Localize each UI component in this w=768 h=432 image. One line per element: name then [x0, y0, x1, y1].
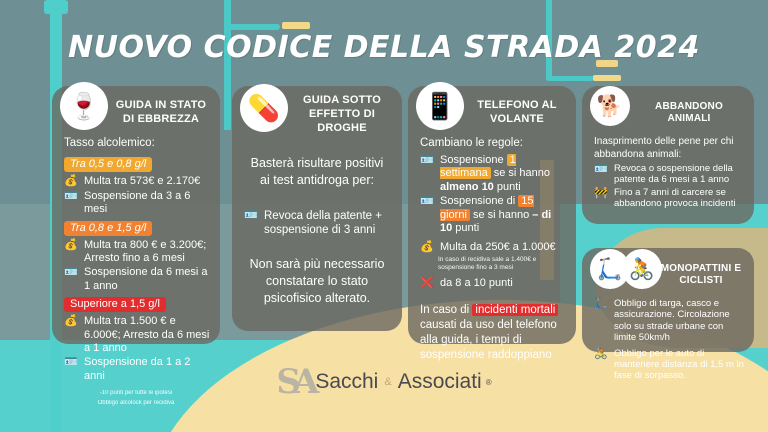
list-item: 🪪 Sospensione di 15 giorni se si hanno –…: [420, 195, 566, 235]
card-title: MONOPATTINI E CICLISTI: [660, 263, 744, 288]
scooter-cyclist-avatars: 🛴 🚴: [590, 249, 654, 289]
smartphone-hand-icon: 📱: [416, 82, 464, 130]
logo-registered-mark: ®: [486, 378, 492, 387]
pills-capsule-icon: 💊: [240, 84, 288, 132]
alcohol-t2-r1: Multa tra 800 € e 3.200€; Arresto fino a…: [84, 239, 210, 266]
phone-r2: Sospensione di 15 giorni se si hanno – d…: [440, 195, 566, 235]
alcohol-intro: Tasso alcolemico:: [64, 136, 210, 151]
kick-scooter-icon: 🛴: [594, 298, 609, 312]
alcohol-tag-1: Tra 0,5 e 0,8 g/l: [64, 157, 152, 172]
money-handcuffs-icon: 💰: [64, 315, 79, 329]
phone-intro: Cambiano le regole:: [420, 136, 566, 151]
driver-license-icon: 🪪: [420, 195, 435, 209]
street-pole-mid: [224, 0, 231, 130]
card-monopattini-e-ciclisti: 🛴 🚴 MONOPATTINI E CICLISTI 🛴 Obbligo di …: [582, 248, 754, 352]
card-guida-sotto-effetto-di-droghe: 💊 GUIDA SOTTO EFFETTO DI DROGHE Basterà …: [232, 86, 402, 331]
phone-note: In caso di incidenti mortali causati da …: [420, 303, 566, 363]
list-item: 🪪 Revoca o sospensione della patente da …: [594, 163, 744, 186]
logo-monogram: SA: [276, 362, 311, 402]
points-minus-icon: ❌: [420, 277, 435, 291]
list-item: 💰 Multa tra 1.500 € e 6.000€; Arresto da…: [64, 315, 210, 355]
alcohol-t1-r2: Sospensione da 3 a 6 mesi: [84, 190, 210, 217]
infographic-canvas: NUOVO CODICE DELLA STRADA 2024 🍷 GUIDA I…: [0, 0, 768, 432]
logo-name-2: Associati: [398, 370, 482, 394]
brand-logo: SA Sacchi & Associati ®: [0, 362, 768, 402]
card-title: GUIDA IN STATO DI EBBREZZA: [114, 99, 210, 127]
card-header: 🛴 🚴 MONOPATTINI E CICLISTI: [592, 256, 744, 294]
card-title: TELEFONO AL VOLANTE: [470, 99, 566, 127]
card-header: 🐕 ABBANDONO ANIMALI: [592, 94, 744, 132]
list-item: 🪪 Sospensione 1 settimana se si hanno al…: [420, 154, 566, 194]
list-item: ❌ da 8 a 10 punti: [420, 277, 566, 291]
driver-license-icon: 🪪: [244, 209, 259, 223]
card-guida-in-stato-di-ebbrezza: 🍷 GUIDA IN STATO DI EBBREZZA Tasso alcol…: [52, 86, 220, 344]
scooter-r1: Obbligo di targa, casco e assicurazione.…: [614, 298, 744, 344]
money-handcuffs-icon: 💰: [64, 239, 79, 253]
wine-glass-icon: 🍷: [60, 82, 108, 130]
driver-license-icon: 🪪: [64, 266, 79, 280]
drugs-intro: Basterà risultare positivi ai test antid…: [246, 155, 388, 189]
alcohol-t2-r2: Sospensione da 6 mesi a 1 anno: [84, 266, 210, 293]
card-abbandono-animali: 🐕 ABBANDONO ANIMALI Inasprimento delle p…: [582, 86, 754, 224]
card-header: 🍷 GUIDA IN STATO DI EBBREZZA: [62, 94, 210, 132]
page-title: NUOVO CODICE DELLA STRADA 2024: [0, 30, 768, 65]
money-bag-icon: 💰: [64, 175, 79, 189]
list-item: 🪪 Sospensione da 3 a 6 mesi: [64, 190, 210, 217]
card-telefono-al-volante: 📱 TELEFONO AL VOLANTE Cambiano le regole…: [408, 86, 576, 344]
alcohol-tag-2: Tra 0,8 e 1,5 g/l: [64, 221, 152, 236]
prison-bars-icon: 🚧: [594, 187, 609, 201]
street-pole-left-cap: [44, 0, 68, 14]
highlight-incidenti-mortali: incidenti mortali: [472, 304, 558, 316]
drugs-r1: Revoca della patente + sospensione di 3 …: [264, 209, 392, 237]
cyclist-icon: 🚴: [594, 348, 609, 362]
driver-license-icon: 🪪: [594, 163, 609, 177]
logo-ampersand: &: [382, 376, 393, 388]
alcohol-t3-r1: Multa tra 1.500 € e 6.000€; Arresto da 6…: [84, 315, 210, 355]
street-pole-right-arm: [546, 76, 594, 81]
alcohol-t1-r1: Multa tra 573€ e 2.170€: [84, 175, 200, 188]
dog-icon: 🐕: [590, 86, 630, 126]
list-item: 💰 Multa tra 800 € e 3.200€; Arresto fino…: [64, 239, 210, 266]
list-item: 🪪 Revoca della patente + sospensione di …: [244, 209, 392, 237]
road-sign-yellow-2: [593, 75, 621, 81]
animals-intro: Inasprimento delle pene per chi abbandon…: [594, 136, 744, 161]
phone-r3-note: In caso di recidiva sale a 1.400€ e sosp…: [438, 256, 566, 272]
road-sign-yellow-1: [282, 22, 310, 29]
list-item: 🛴 Obbligo di targa, casco e assicurazion…: [594, 298, 744, 344]
driver-license-icon: 🪪: [420, 154, 435, 168]
animals-r2: Fino a 7 anni di carcere se abbandono pr…: [614, 187, 744, 210]
list-item: 💰 Multa tra 573€ e 2.170€: [64, 175, 210, 189]
phone-r4: da 8 a 10 punti: [440, 277, 513, 290]
list-item: 💰 Multa da 250€ a 1.000€: [420, 241, 566, 255]
cyclist-icon: 🚴: [622, 249, 662, 289]
phone-r1: Sospensione 1 settimana se si hanno alme…: [440, 154, 566, 194]
list-item: 🚧 Fino a 7 anni di carcere se abbandono …: [594, 187, 744, 210]
card-header: 💊 GUIDA SOTTO EFFETTO DI DROGHE: [242, 94, 392, 135]
drugs-note: Non sarà più necessario constatare lo st…: [246, 256, 388, 307]
driver-license-icon: 🪪: [64, 190, 79, 204]
animals-r1: Revoca o sospensione della patente da 6 …: [614, 163, 744, 186]
list-item: 🪪 Sospensione da 6 mesi a 1 anno: [64, 266, 210, 293]
card-header: 📱 TELEFONO AL VOLANTE: [418, 94, 566, 132]
alcohol-tag-3: Superiore a 1,5 g/l: [64, 297, 166, 312]
card-title: ABBANDONO ANIMALI: [636, 101, 744, 126]
money-bag-icon: 💰: [420, 241, 435, 255]
phone-r3: Multa da 250€ a 1.000€: [440, 241, 556, 254]
logo-name: Sacchi: [315, 370, 378, 394]
card-title: GUIDA SOTTO EFFETTO DI DROGHE: [294, 94, 392, 135]
